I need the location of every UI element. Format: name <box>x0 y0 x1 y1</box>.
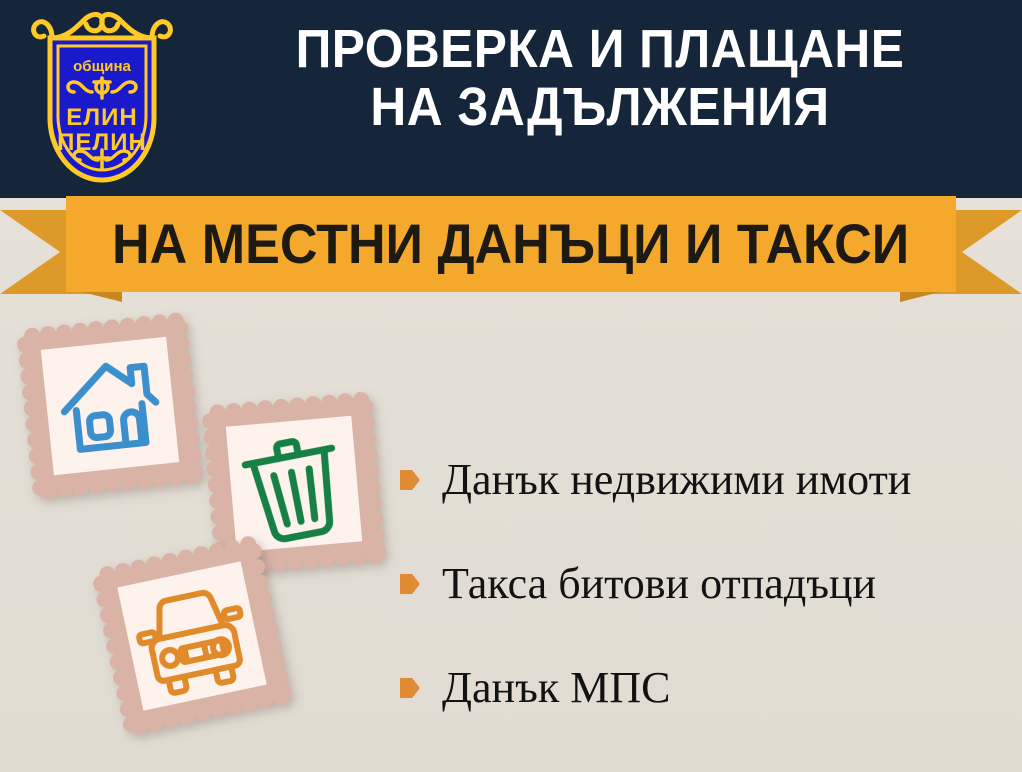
list-item: Данък МПС <box>400 636 1010 740</box>
list-item-label: Данък МПС <box>442 666 670 710</box>
tax-types-list: Данък недвижими имоти Такса битови отпад… <box>400 428 1010 740</box>
list-item-label: Данък недвижими имоти <box>442 458 911 502</box>
ribbon-label: НА МЕСТНИ ДАНЪЦИ И ТАКСИ <box>112 216 909 272</box>
municipality-logo: община ЕЛИН ПЕЛИН <box>22 8 182 190</box>
list-item-label: Такса битови отпадъци <box>442 562 876 606</box>
house-stamp-graphic <box>13 309 206 502</box>
coat-of-arms-shield: община ЕЛИН ПЕЛИН <box>22 8 182 190</box>
page-title: ПРОВЕРКА И ПЛАЩАНЕ НА ЗАДЪЛЖЕНИЯ <box>218 20 982 137</box>
ribbon-banner: НА МЕСТНИ ДАНЪЦИ И ТАКСИ <box>0 196 1022 308</box>
logo-line-top: община <box>73 58 131 75</box>
car-stamp-graphic <box>88 532 297 741</box>
arrow-bullet-icon <box>400 573 420 595</box>
list-item: Данък недвижими имоти <box>400 428 1010 532</box>
list-item: Такса битови отпадъци <box>400 532 1010 636</box>
arrow-bullet-icon <box>400 469 420 491</box>
logo-line-1: ЕЛИН <box>66 104 137 131</box>
stamp-house <box>13 309 206 502</box>
arrow-bullet-icon <box>400 677 420 699</box>
poster-canvas: ПРОВЕРКА И ПЛАЩАНЕ НА ЗАДЪЛЖЕНИЯ община … <box>0 0 1022 772</box>
stamp-car <box>88 532 297 741</box>
ribbon-main-bar: НА МЕСТНИ ДАНЪЦИ И ТАКСИ <box>66 196 956 292</box>
